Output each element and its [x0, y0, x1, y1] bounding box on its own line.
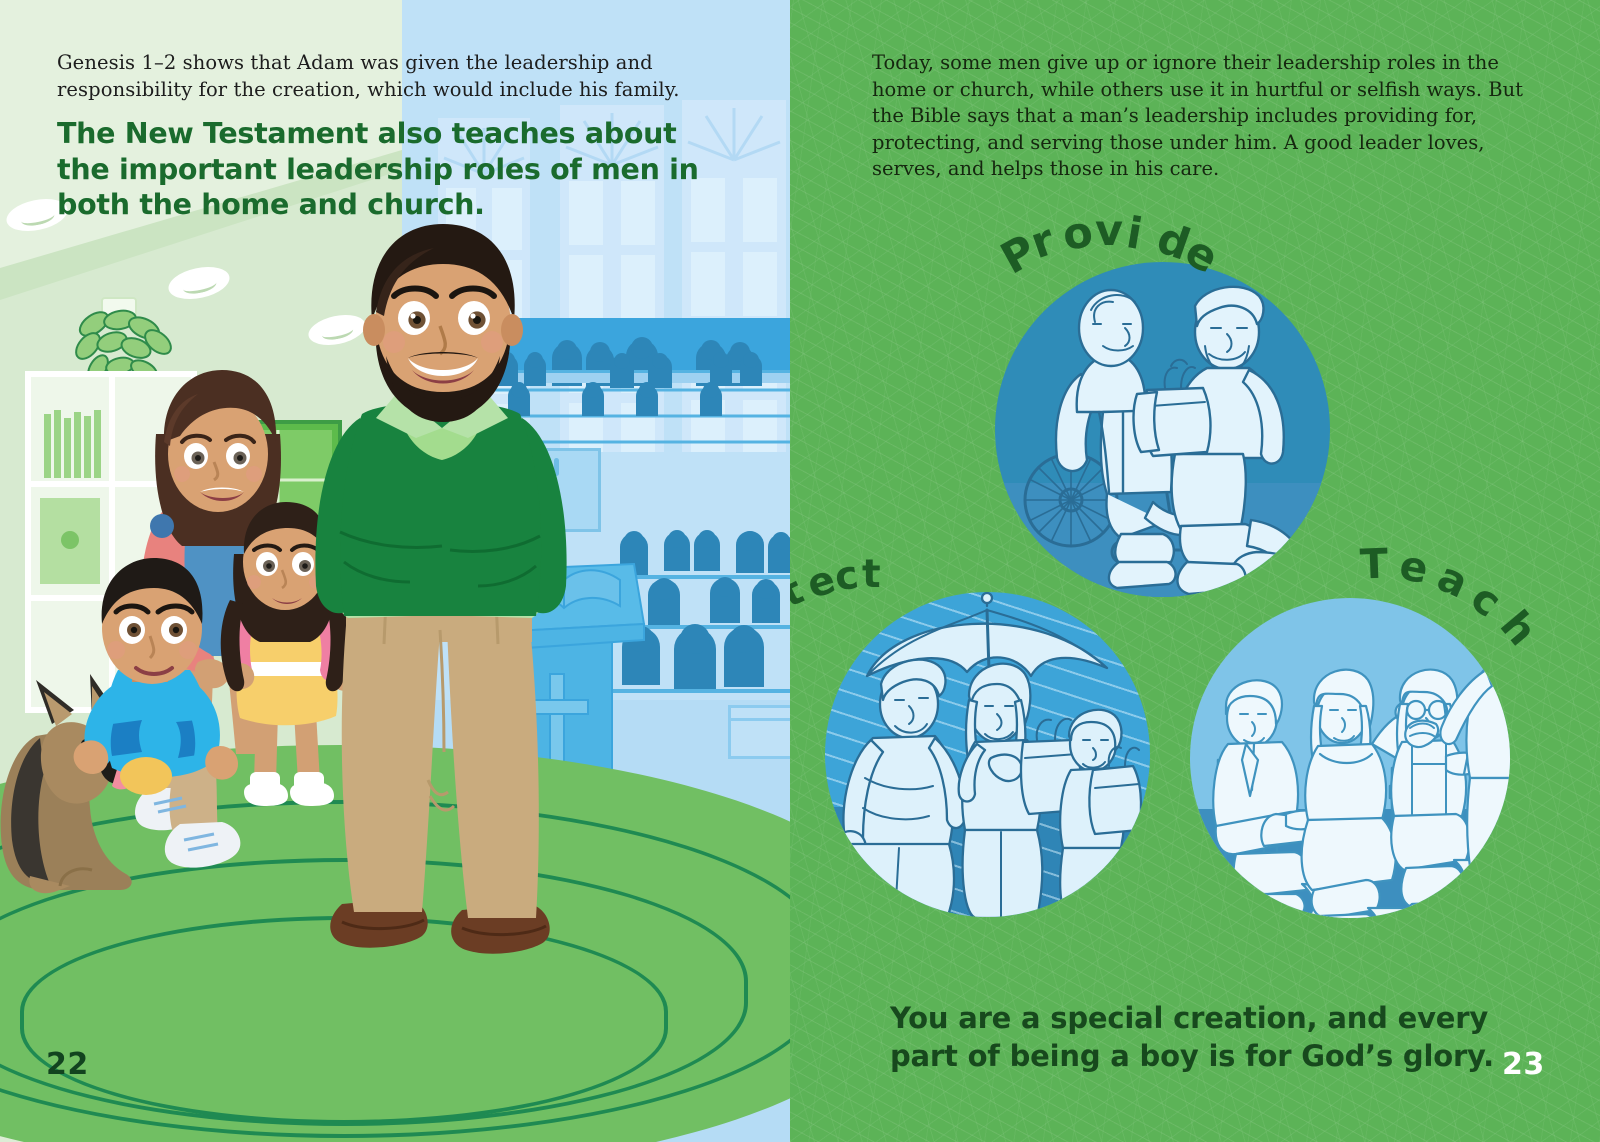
book-spread: Genesis 1–2 shows that Adam was given th…: [0, 0, 1600, 1142]
page-number-right: 23: [1502, 1047, 1545, 1082]
right-page: Today, some men give up or ignore their …: [790, 0, 1600, 1142]
right-footer-text: You are a special creation, and every pa…: [890, 1000, 1510, 1075]
church-box: [728, 705, 790, 759]
left-body-text: Genesis 1–2 shows that Adam was given th…: [57, 50, 697, 103]
left-page: Genesis 1–2 shows that Adam was given th…: [0, 0, 790, 1142]
protect-circle: [825, 592, 1150, 917]
provide-circle: [995, 262, 1330, 597]
father-character: [300, 232, 600, 972]
left-heading-text: The New Testament also teaches about the…: [57, 116, 707, 223]
right-body-text: Today, some men give up or ignore their …: [872, 50, 1527, 183]
page-number-left: 22: [46, 1047, 89, 1082]
teach-circle: [1190, 598, 1510, 918]
boy-character: [58, 572, 288, 882]
